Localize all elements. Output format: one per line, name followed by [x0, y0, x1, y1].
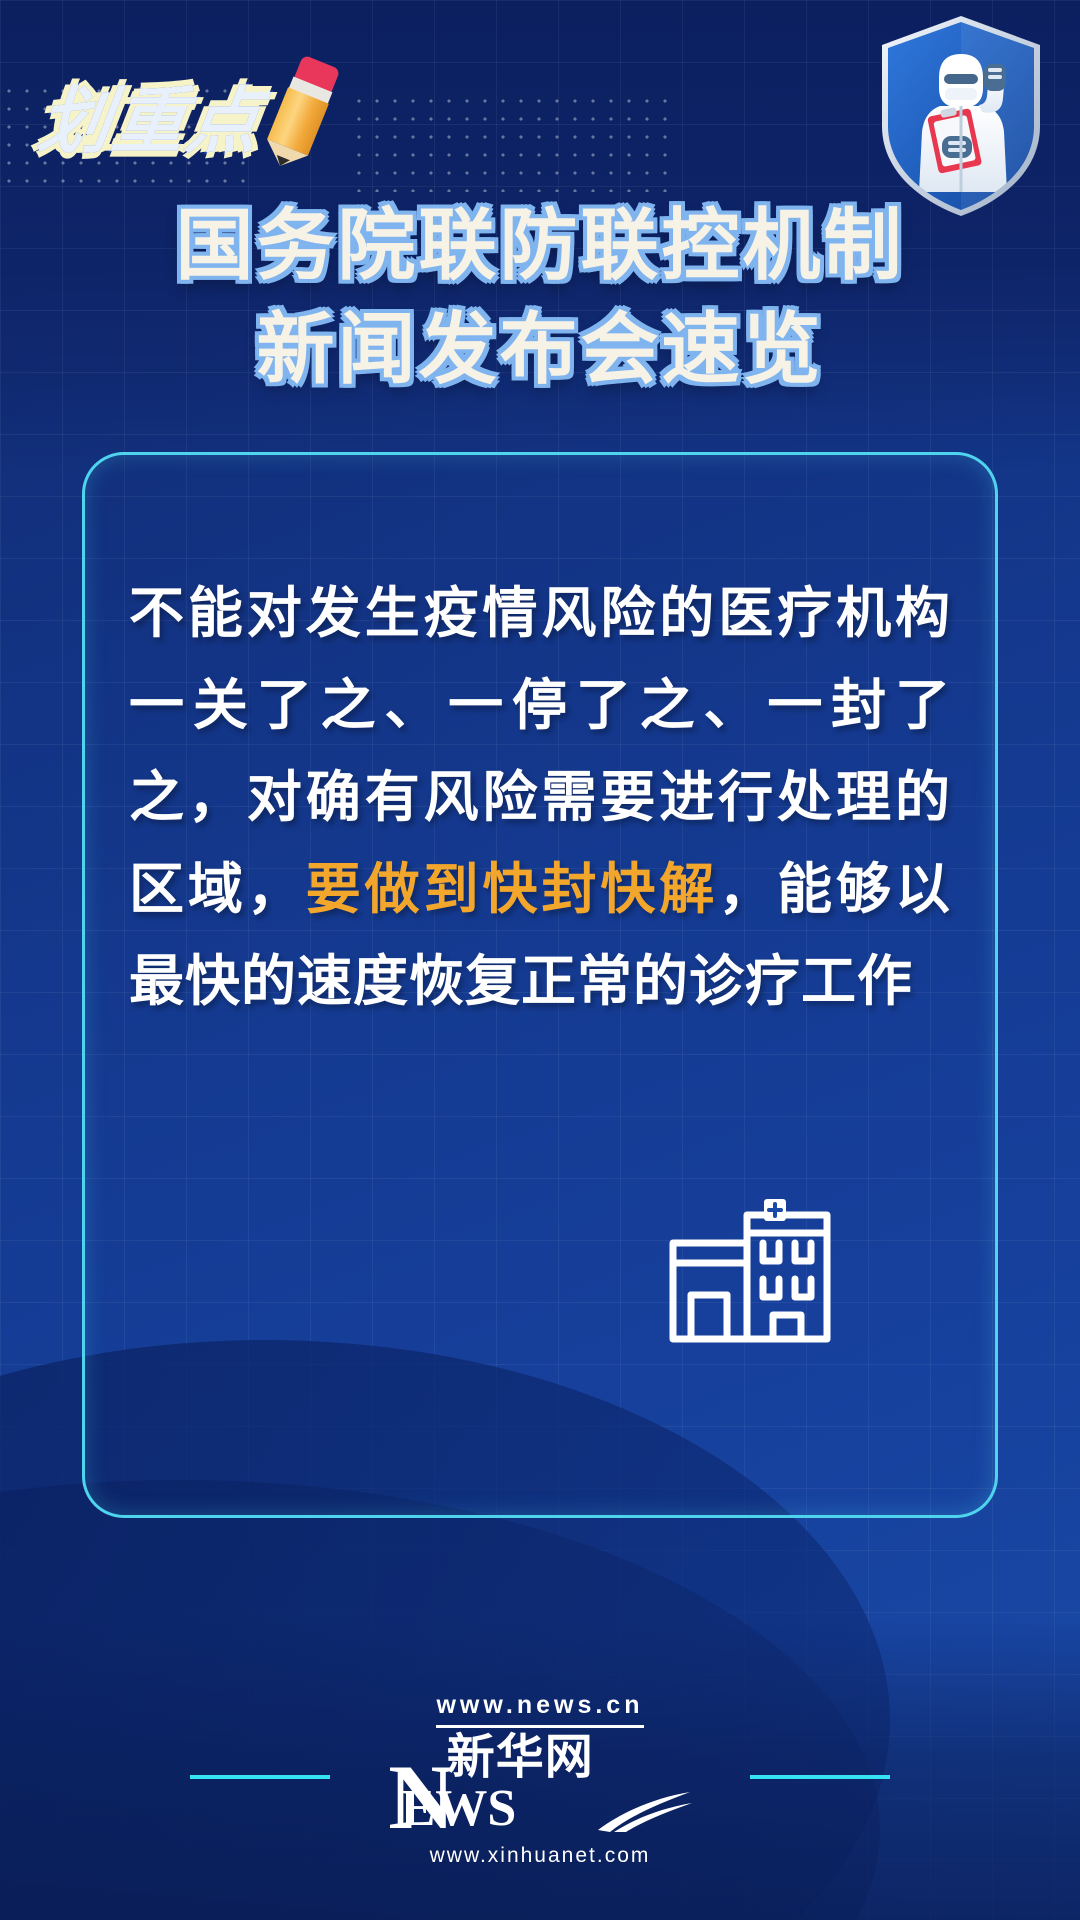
- content-card: 不能对发生疫情风险的医疗机构一关了之、一停了之、一封了之，对确有风险需要进行处理…: [82, 452, 998, 1518]
- page-title: 国务院联防联控机制 新闻发布会速览: [0, 196, 1080, 398]
- cyan-rule-left: [190, 1775, 330, 1779]
- cyan-rule-right: [750, 1775, 890, 1779]
- footer-url-bottom[interactable]: www.xinhuanet.com: [430, 1844, 651, 1868]
- shield-medical-worker-icon: [866, 8, 1056, 223]
- content-segment-highlight: 要做到快封快解: [306, 858, 718, 920]
- highlight-tag-label: 划重点: [33, 62, 270, 167]
- page-title-line-1: 国务院联防联控机制: [0, 196, 1080, 294]
- footer-brand: www.news.cn N 新华网 EWS www.xinhuanet.com: [0, 1691, 1080, 1868]
- poster-root: 划重点: [0, 0, 1080, 1920]
- swoosh-icon: [596, 1786, 692, 1832]
- highlight-tag: 划重点: [40, 54, 328, 174]
- page-title-line-2: 新闻发布会速览: [0, 300, 1080, 398]
- content-paragraph: 不能对发生疫情风险的医疗机构一关了之、一停了之、一封了之，对确有风险需要进行处理…: [129, 567, 951, 1027]
- hospital-icon: [645, 1197, 855, 1347]
- pencil-icon: [255, 52, 347, 176]
- dot-pattern-right: [350, 92, 680, 192]
- logo-chinese-name: 新华网: [447, 1734, 594, 1782]
- xinhua-logo: N 新华网 EWS: [388, 1734, 691, 1832]
- logo-letters-ews: EWS: [401, 1786, 517, 1832]
- footer-url-top[interactable]: www.news.cn: [436, 1691, 643, 1728]
